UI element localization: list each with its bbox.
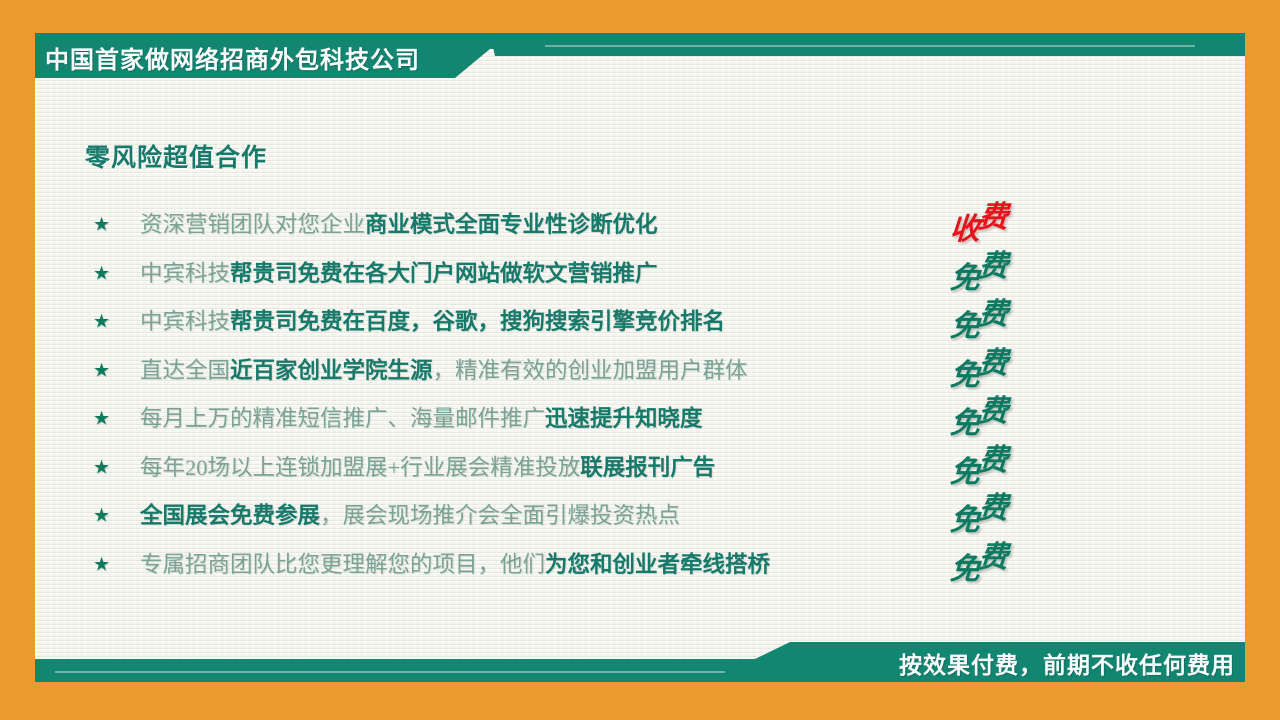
label-plain: 中宾科技 — [140, 261, 230, 286]
benefits-list: ★资深营销团队对您企业商业模式全面专业性诊断优化收费★中宾科技帮贵司免费在各大门… — [35, 201, 1245, 589]
label-emphasis: 商业模式全面专业性诊断优化 — [365, 212, 658, 237]
status-badge-glyph: 免 — [949, 409, 981, 439]
label-plain: ，精准有效的创业加盟用户群体 — [433, 358, 748, 383]
star-icon: ★ — [93, 313, 110, 332]
status-badge-glyph: 免 — [949, 264, 981, 294]
star-icon: ★ — [93, 555, 110, 574]
list-item: ★资深营销团队对您企业商业模式全面专业性诊断优化收费 — [35, 201, 1245, 250]
label-plain: 每年20场以上连锁加盟展+行业展会精准投放 — [140, 455, 580, 480]
slide-root: 中国首家做网络招商外包科技公司 零风险超值合作 ★资深营销团队对您企业商业模式全… — [0, 0, 1280, 720]
list-item: ★直达全国近百家创业学院生源，精准有效的创业加盟用户群体免费 — [35, 347, 1245, 396]
status-badge: 收费 — [950, 210, 1008, 240]
star-icon: ★ — [93, 216, 110, 235]
status-badge-glyph: 费 — [977, 349, 1009, 379]
footer-tagline: 按效果付费，前期不收任何费用 — [899, 646, 1235, 680]
label-emphasis: 迅速提升知晓度 — [545, 406, 703, 431]
status-badge-glyph: 免 — [949, 458, 981, 488]
status-badge-glyph: 费 — [977, 446, 1009, 476]
list-item: ★每年20场以上连锁加盟展+行业展会精准投放联展报刊广告免费 — [35, 444, 1245, 493]
status-badge-glyph: 免 — [949, 361, 981, 391]
status-badge: 免费 — [950, 453, 1008, 483]
status-badge: 免费 — [950, 550, 1008, 580]
list-item-label: 每月上万的精准短信推广、海量邮件推广迅速提升知晓度 — [140, 406, 703, 432]
list-item-label: 直达全国近百家创业学院生源，精准有效的创业加盟用户群体 — [140, 358, 748, 384]
label-emphasis: 帮贵司免费在百度，谷歌，搜狗搜索引擎竞价排名 — [230, 309, 725, 334]
status-badge-glyph: 收 — [949, 215, 981, 245]
status-badge-glyph: 费 — [977, 300, 1009, 330]
star-icon: ★ — [93, 507, 110, 526]
status-badge: 免费 — [950, 404, 1008, 434]
list-item-label: 专属招商团队比您更理解您的项目，他们为您和创业者牵线搭桥 — [140, 552, 770, 578]
label-plain: 每月上万的精准短信推广、海量邮件推广 — [140, 406, 545, 431]
status-badge: 免费 — [950, 356, 1008, 386]
label-emphasis: 近百家创业学院生源 — [230, 358, 433, 383]
list-item-label: 每年20场以上连锁加盟展+行业展会精准投放联展报刊广告 — [140, 455, 715, 481]
content-area: 零风险超值合作 ★资深营销团队对您企业商业模式全面专业性诊断优化收费★中宾科技帮… — [35, 83, 1245, 632]
status-badge-glyph: 费 — [977, 494, 1009, 524]
list-item: ★中宾科技帮贵司免费在百度，谷歌，搜狗搜索引擎竞价排名免费 — [35, 298, 1245, 347]
status-badge-glyph: 费 — [977, 543, 1009, 573]
header-title: 中国首家做网络招商外包科技公司 — [45, 40, 420, 75]
star-icon: ★ — [93, 410, 110, 429]
status-badge: 免费 — [950, 501, 1008, 531]
status-badge-glyph: 免 — [949, 506, 981, 536]
list-item-label: 中宾科技帮贵司免费在百度，谷歌，搜狗搜索引擎竞价排名 — [140, 309, 725, 335]
status-badge-glyph: 费 — [977, 397, 1009, 427]
label-plain: 直达全国 — [140, 358, 230, 383]
status-badge-glyph: 免 — [949, 312, 981, 342]
list-item-label: 中宾科技帮贵司免费在各大门户网站做软文营销推广 — [140, 261, 658, 287]
list-item: ★每月上万的精准短信推广、海量邮件推广迅速提升知晓度免费 — [35, 395, 1245, 444]
list-item: ★专属招商团队比您更理解您的项目，他们为您和创业者牵线搭桥免费 — [35, 541, 1245, 590]
page-title: 零风险超值合作 — [85, 138, 267, 174]
status-badge-glyph: 费 — [977, 203, 1009, 233]
label-plain: ，展会现场推介会全面引爆投资热点 — [320, 503, 680, 528]
status-badge: 免费 — [950, 259, 1008, 289]
label-plain: 专属招商团队比您更理解您的项目，他们 — [140, 552, 545, 577]
label-plain: 中宾科技 — [140, 309, 230, 334]
star-icon: ★ — [93, 264, 110, 283]
label-emphasis: 为您和创业者牵线搭桥 — [545, 552, 770, 577]
list-item: ★中宾科技帮贵司免费在各大门户网站做软文营销推广免费 — [35, 250, 1245, 299]
star-icon: ★ — [93, 458, 110, 477]
list-item: ★全国展会免费参展，展会现场推介会全面引爆投资热点免费 — [35, 492, 1245, 541]
status-badge-glyph: 费 — [977, 252, 1009, 282]
star-icon: ★ — [93, 361, 110, 380]
list-item-label: 资深营销团队对您企业商业模式全面专业性诊断优化 — [140, 212, 658, 238]
label-emphasis: 帮贵司免费在各大门户网站做软文营销推广 — [230, 261, 658, 286]
status-badge: 免费 — [950, 307, 1008, 337]
label-emphasis: 联展报刊广告 — [580, 455, 715, 480]
label-emphasis: 全国展会免费参展 — [140, 503, 320, 528]
list-item-label: 全国展会免费参展，展会现场推介会全面引爆投资热点 — [140, 503, 680, 529]
status-badge-glyph: 免 — [949, 555, 981, 585]
label-plain: 资深营销团队对您企业 — [140, 212, 365, 237]
